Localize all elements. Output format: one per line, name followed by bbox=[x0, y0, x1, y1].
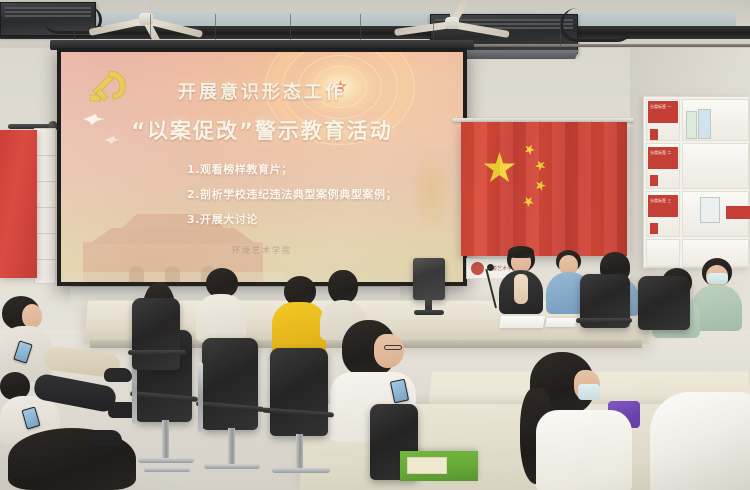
seated-student-legs bbox=[30, 320, 140, 450]
shelf-cell bbox=[682, 143, 749, 189]
binder-label bbox=[407, 457, 447, 474]
slide-footer: 环境艺术学院 bbox=[61, 245, 463, 256]
shelf-label-card: 分类标签 一 bbox=[648, 101, 678, 123]
shelf-tag bbox=[650, 129, 658, 140]
slide-agenda-item-1: 1.观看榜样教育片； bbox=[187, 161, 463, 177]
green-binder[interactable] bbox=[400, 451, 478, 481]
office-chair-2[interactable] bbox=[196, 338, 268, 488]
fan-blade bbox=[89, 17, 147, 36]
student-torso bbox=[196, 294, 246, 342]
chair-backrest bbox=[202, 338, 258, 430]
shelf-tag bbox=[650, 175, 658, 186]
speaker-inner-top bbox=[514, 274, 528, 304]
office-chair-4[interactable] bbox=[128, 298, 192, 408]
chair-base bbox=[272, 468, 330, 473]
student-face bbox=[374, 334, 404, 368]
red-wall-banner bbox=[0, 130, 37, 278]
document-on-table bbox=[499, 316, 545, 328]
student-torso bbox=[650, 392, 750, 490]
chair-post bbox=[228, 428, 235, 466]
shelf-label-card: 分类标签 三 bbox=[648, 195, 678, 217]
hanging-wire bbox=[560, 20, 561, 46]
shelf-label-card: 分类标签 二 bbox=[648, 147, 678, 169]
speaker-fringe bbox=[508, 246, 534, 258]
bookshelf: 分类标签 一 分类标签 二 分类标签 三 bbox=[643, 96, 750, 268]
chair-post bbox=[162, 420, 169, 460]
fan-blade bbox=[451, 21, 509, 38]
face-mask bbox=[707, 273, 728, 284]
student-foreground-ponytail bbox=[512, 352, 632, 490]
shelf-side-card bbox=[726, 206, 750, 219]
monitor-base bbox=[414, 310, 444, 315]
face-mask bbox=[578, 384, 600, 400]
slide-agenda-item-2: 2.剖析学校违纪违法典型案例典型案例； bbox=[187, 186, 463, 202]
chair-base bbox=[204, 464, 260, 469]
fan-hub bbox=[445, 17, 459, 29]
student-torso bbox=[536, 410, 632, 490]
chair-frame bbox=[198, 362, 203, 432]
ceiling-duct-right bbox=[560, 8, 634, 42]
shoe bbox=[88, 430, 122, 446]
wall-shelf-left bbox=[34, 128, 56, 284]
flag-small-star-icon bbox=[533, 158, 549, 174]
chair-base bbox=[144, 468, 190, 472]
chair-backrest bbox=[638, 276, 690, 330]
chair-armrest bbox=[128, 350, 186, 355]
ceiling-fan-left bbox=[86, 0, 206, 36]
book bbox=[700, 197, 720, 223]
chair-post bbox=[296, 434, 303, 470]
office-chair-6[interactable] bbox=[634, 276, 696, 356]
book bbox=[698, 109, 711, 139]
classroom-photo: 开展意识形态工作 “以案促改”警示教育活动 1.观看榜样教育片； 2.剖析学校违… bbox=[0, 0, 750, 490]
chair-backrest bbox=[132, 298, 180, 370]
glasses-icon bbox=[384, 345, 402, 350]
flag-small-star-icon bbox=[533, 178, 547, 192]
fan-blade bbox=[394, 21, 452, 36]
ceiling-fan-right bbox=[392, 4, 512, 40]
chair-backrest bbox=[270, 348, 328, 436]
slide-title-line2: “以案促改”警示教育活动 bbox=[131, 115, 393, 145]
shelf-cell bbox=[646, 239, 680, 267]
student-foreground-right bbox=[650, 392, 750, 490]
speaker-at-microphone bbox=[497, 246, 545, 312]
document-on-table bbox=[545, 318, 577, 327]
logo-mark-icon bbox=[471, 262, 484, 275]
shelf-tag bbox=[650, 223, 658, 234]
projection-screen: 开展意识形态工作 “以案促改”警示教育活动 1.观看榜样教育片； 2.剖析学校违… bbox=[57, 48, 467, 286]
book bbox=[686, 111, 697, 139]
student-hair bbox=[328, 270, 358, 304]
microphone-head-icon bbox=[487, 264, 494, 271]
flag-small-star-icon bbox=[521, 194, 536, 209]
desk-monitor bbox=[413, 258, 445, 300]
office-chair-3[interactable] bbox=[262, 348, 338, 490]
student-white-top bbox=[196, 268, 246, 340]
slide-canvas: 开展意识形态工作 “以案促改”警示教育活动 1.观看榜样教育片； 2.剖析学校违… bbox=[61, 52, 463, 282]
flag-large-star-icon bbox=[483, 152, 516, 185]
office-chair-5[interactable] bbox=[576, 274, 636, 352]
chinese-national-flag bbox=[461, 122, 627, 256]
slide-agenda-item-3: 3.开展大讨论 bbox=[187, 211, 463, 227]
flag-small-star-icon bbox=[522, 142, 537, 157]
chair-armrest bbox=[576, 318, 632, 323]
slide-agenda-list: 1.观看榜样教育片； 2.剖析学校违纪违法典型案例典型案例； 3.开展大讨论 bbox=[61, 161, 463, 227]
slide-title-line1: 开展意识形态工作 bbox=[178, 78, 346, 104]
chair-base bbox=[138, 458, 194, 463]
